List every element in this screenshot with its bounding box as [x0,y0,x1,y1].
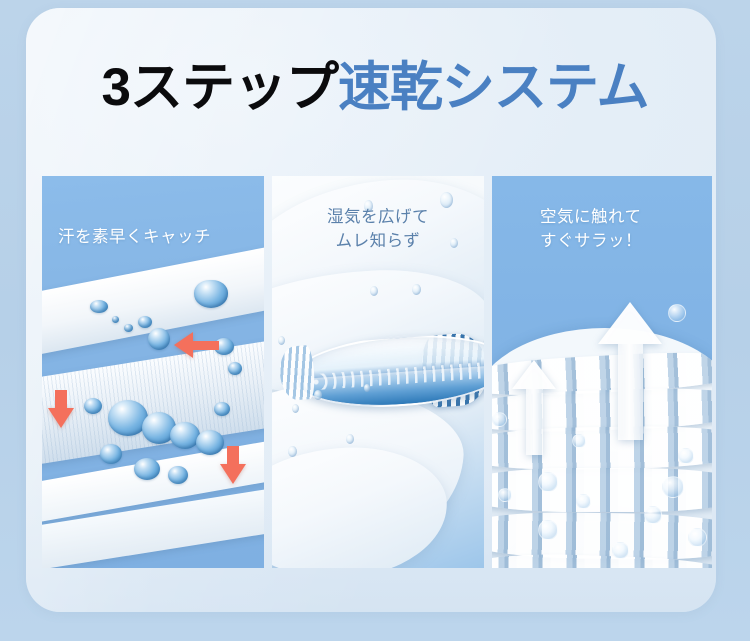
step-panel-2-caption: 湿気を広げて ムレ知らず [272,206,484,254]
moisture-bubble [572,434,586,448]
water-droplet [194,280,228,308]
moisture-bubble [498,488,512,502]
air-flow-arrow-up-small-icon [512,360,556,455]
moisture-bubble [612,542,629,559]
arrow-shaft [618,344,643,440]
moisture-bubble [688,528,707,547]
arrow-head [598,302,662,344]
water-droplet [168,466,188,484]
water-droplet [214,402,230,416]
water-droplet [148,328,170,350]
water-droplet [196,430,224,455]
surface-water-bead [346,434,354,444]
flow-arrow-left-shaft [193,341,219,350]
arrow-head [512,360,556,389]
moisture-bubble [668,304,686,322]
title-segment-system: 速乾システム [338,58,648,117]
flow-arrow-left-icon [174,332,193,358]
water-droplet [138,316,152,328]
water-droplet [100,444,122,464]
water-droplet [90,300,108,313]
water-droplet [112,316,119,323]
flow-arrow-down-icon [220,464,246,484]
step-panel-2: 湿気を広げて ムレ知らず [272,176,484,568]
moisture-bubble [538,472,558,492]
step-panel-3-caption: 空気に触れて すぐサラッ！ [540,206,642,254]
flow-arrow-down-shaft [55,390,67,410]
surface-water-bead [288,446,297,457]
moisture-bubble [538,520,558,540]
step-panel-3: 空気に触れて すぐサラッ！ [492,176,712,568]
moisture-bubble [678,448,694,464]
moisture-bubble [662,476,684,498]
moisture-bubble [644,506,662,524]
arrow-shaft [526,389,543,455]
surface-water-bead [370,286,378,296]
surface-water-bead [314,390,322,400]
water-droplet [228,362,242,375]
moisture-bubble [492,412,507,427]
knit-loop-row [492,510,712,561]
infographic-stage: 3ステップ速乾システム [0,0,750,641]
air-flow-arrow-up-large-icon [598,302,662,440]
step-panel-1: 汗を素早くキャッチ [42,176,264,568]
step-panel-row: 汗を素早くキャッチ [42,176,712,568]
page-title: 3ステップ速乾システム [0,58,750,117]
water-droplet [134,458,160,480]
water-droplet [84,398,102,414]
moisture-bubble [576,494,591,509]
title-segment-step: 3ステップ [102,58,338,117]
surface-water-bead [278,336,285,345]
flow-arrow-down-shaft [227,446,239,466]
surface-water-bead [292,404,299,413]
step-panel-1-caption: 汗を素早くキャッチ [58,226,211,250]
surface-water-bead [364,384,370,392]
surface-water-bead [412,284,421,295]
flow-arrow-down-icon [48,408,74,428]
water-droplet [124,324,133,332]
